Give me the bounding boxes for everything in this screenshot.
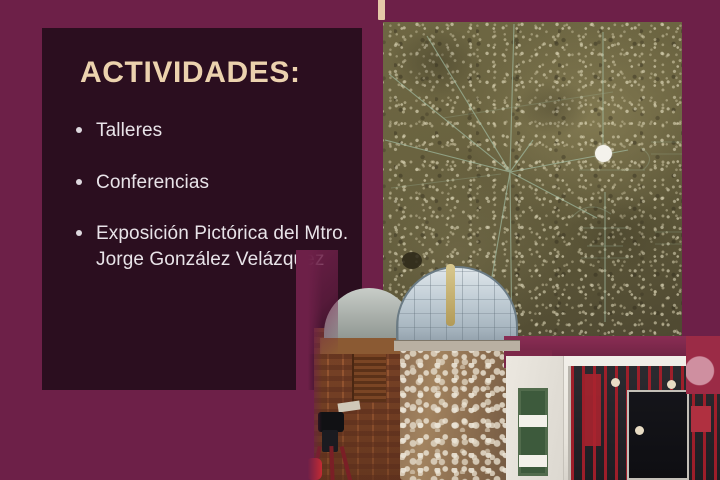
white-dot: [595, 145, 612, 162]
tripod-leg: [340, 446, 353, 480]
bullet-icon: [76, 179, 82, 185]
bullet-icon: [76, 230, 82, 236]
bullet-icon: [76, 127, 82, 133]
glass-door: [627, 390, 689, 480]
gate-red-panel: [585, 374, 601, 446]
poster-canvas: ACTIVIDADES: Talleres Conferencias Expos…: [0, 0, 720, 480]
list-item-label: Talleres: [96, 120, 162, 141]
green-window: [518, 388, 548, 476]
observatory-dome: [396, 266, 518, 344]
list-item: Talleres: [68, 118, 352, 144]
activities-title: ACTIVIDADES:: [80, 56, 301, 90]
list-item: Conferencias: [68, 170, 352, 196]
cropped-headline-sliver: [378, 0, 385, 20]
lamp-icon: [667, 380, 676, 389]
photo-corner-feather: [296, 250, 338, 354]
lamp-icon: [635, 426, 644, 435]
observatory-photograph: [296, 250, 720, 480]
telescope-finder: [337, 401, 360, 413]
list-item-label: Conferencias: [96, 172, 209, 193]
stone-tower: [400, 348, 518, 480]
right-red-wall: [686, 336, 720, 394]
dome-shutter: [446, 264, 455, 326]
interior-poster: [691, 406, 711, 432]
dome-base-ring: [394, 340, 520, 351]
lamp-icon: [611, 378, 620, 387]
